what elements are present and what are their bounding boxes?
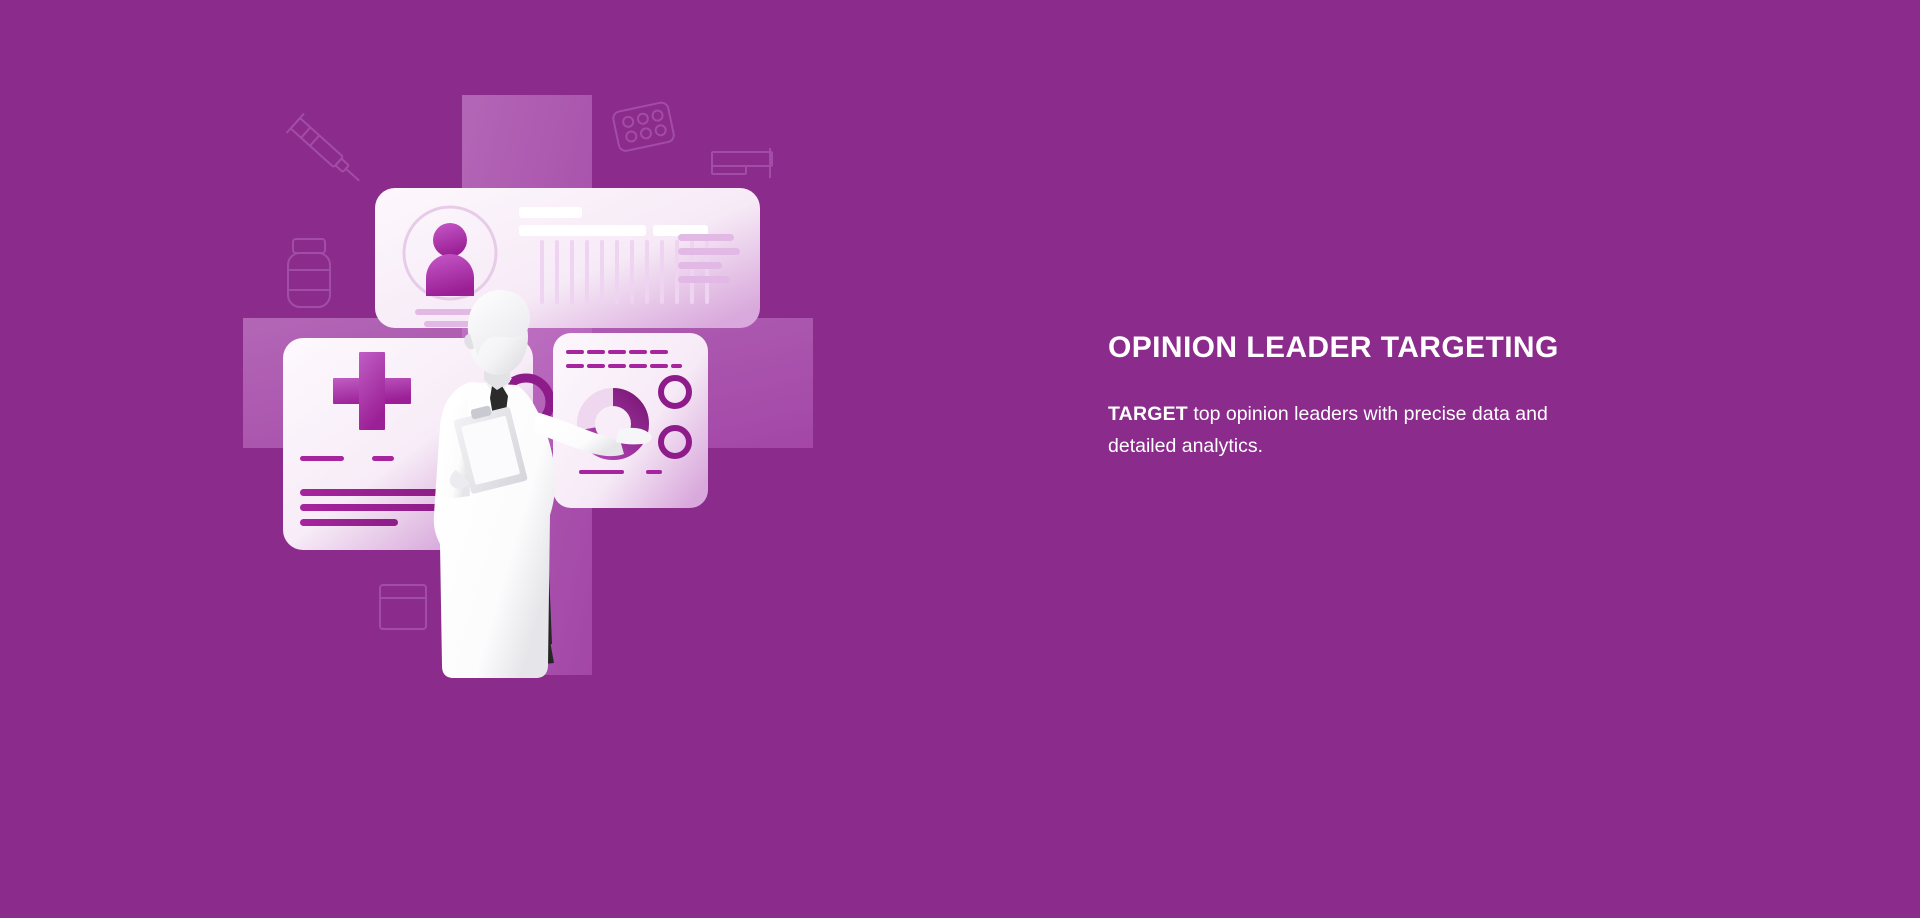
copy-block: OPINION LEADER TARGETING TARGET top opin… <box>1108 330 1748 462</box>
page-title: OPINION LEADER TARGETING <box>1108 330 1748 366</box>
card-subtitle-bar <box>519 225 646 236</box>
body-text: TARGET top opinion leaders with precise … <box>1108 399 1578 462</box>
illustration-svg <box>0 0 1060 918</box>
body-lead: TARGET <box>1108 403 1188 425</box>
donut-card <box>553 333 708 508</box>
card-title-bar <box>519 207 582 218</box>
hero-banner: OPINION LEADER TARGETING TARGET top opin… <box>0 0 1920 918</box>
profile-card <box>375 188 760 328</box>
hero-illustration <box>0 0 1060 918</box>
